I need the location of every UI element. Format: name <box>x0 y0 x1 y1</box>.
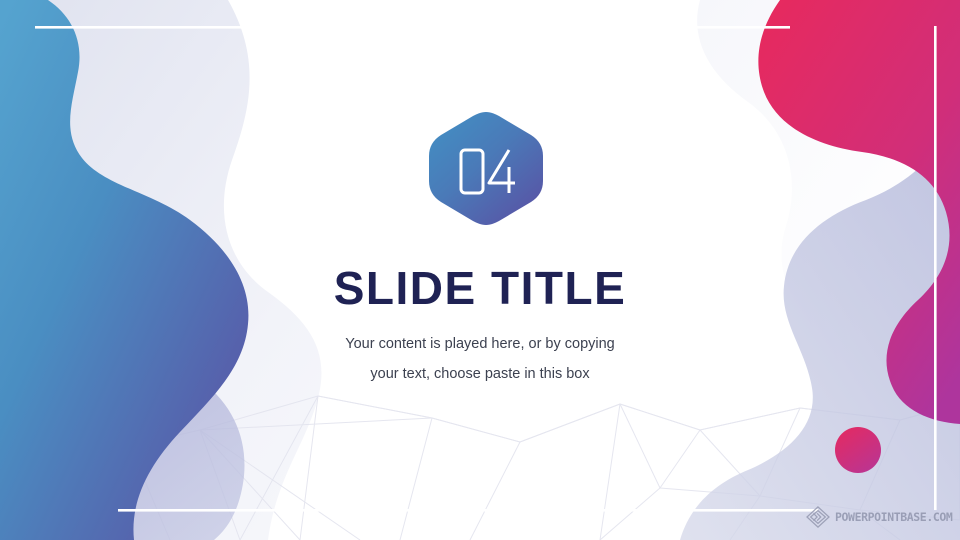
hexagon-number-badge <box>427 111 545 226</box>
watermark: POWERPOINTBASE.COM <box>806 506 952 528</box>
diamond-chevron-logo-icon <box>806 506 830 528</box>
slide-content: SLIDE TITLE Your content is played here,… <box>0 0 960 540</box>
slide-canvas: SLIDE TITLE Your content is played here,… <box>0 0 960 540</box>
watermark-text: POWERPOINTBASE.COM <box>835 510 952 524</box>
hexagon-shape-icon <box>427 111 545 226</box>
page-title: SLIDE TITLE <box>0 263 960 315</box>
subtitle-line-1: Your content is played here, or by copyi… <box>0 329 960 359</box>
subtitle-line-2: your text, choose paste in this box <box>0 359 960 389</box>
subtitle-text: Your content is played here, or by copyi… <box>0 329 960 389</box>
